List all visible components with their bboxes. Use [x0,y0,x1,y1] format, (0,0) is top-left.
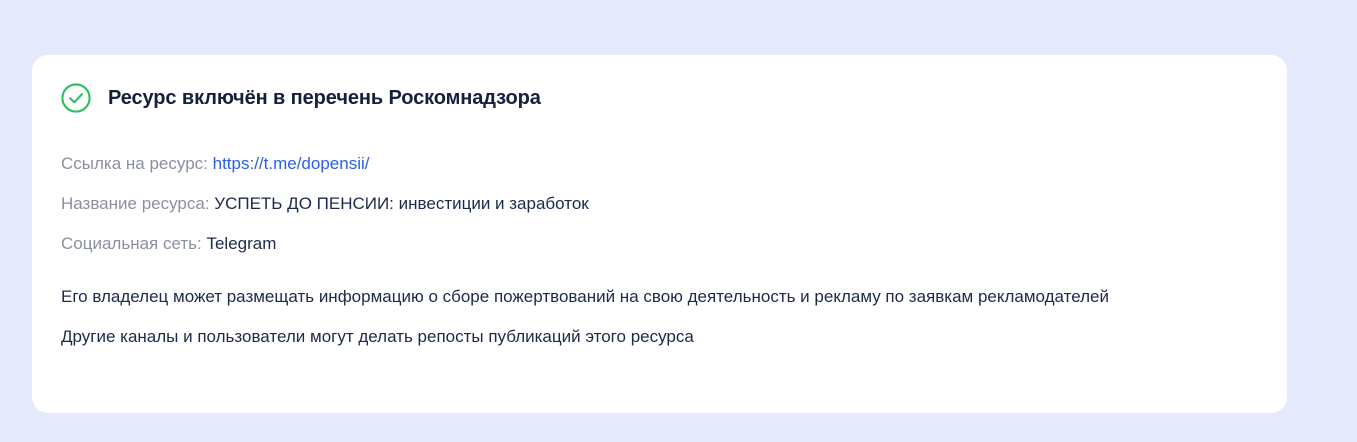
note-reposts: Другие каналы и пользователи могут делат… [61,323,1161,350]
resource-details: Ссылка на ресурс: https://t.me/dopensii/… [61,153,1241,273]
note-monetization: Его владелец может размещать информацию … [61,283,1146,310]
card-header: Ресурс включён в перечень Роскомнадзора [60,82,541,114]
resource-notes: Его владелец может размещать информацию … [61,283,1161,350]
detail-label-resource-link: Ссылка на ресурс: [61,154,208,173]
detail-label-social-network: Социальная сеть: [61,234,202,253]
detail-row-resource-link: Ссылка на ресурс: https://t.me/dopensii/ [61,153,1241,193]
page-title: Ресурс включён в перечень Роскомнадзора [108,87,541,110]
detail-row-social-network: Социальная сеть: Telegram [61,233,1241,273]
detail-row-resource-name: Название ресурса: УСПЕТЬ ДО ПЕНСИИ: инве… [61,193,1241,233]
social-network-value: Telegram [206,234,276,253]
resource-link[interactable]: https://t.me/dopensii/ [213,154,370,173]
detail-label-resource-name: Название ресурса: [61,194,210,213]
resource-name-value: УСПЕТЬ ДО ПЕНСИИ: инвестиции и заработок [214,194,588,213]
check-circle-icon [60,82,92,114]
resource-status-card: Ресурс включён в перечень Роскомнадзора … [32,55,1287,413]
